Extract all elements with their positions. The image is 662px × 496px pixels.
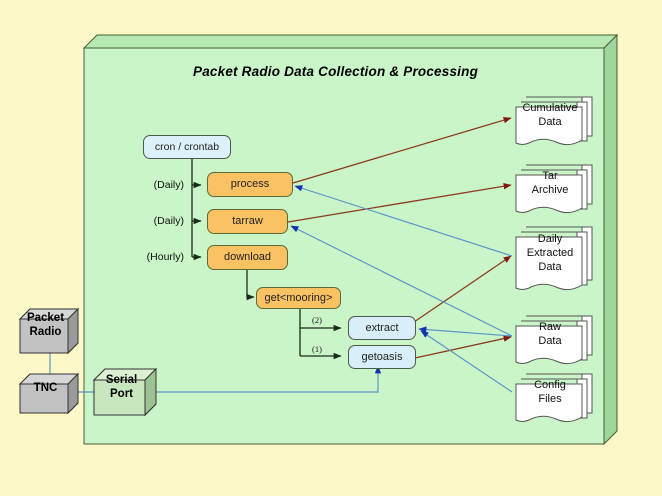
hardware-box-packet-radio[interactable]: Packet Radio [20,305,82,355]
process-box-get-mooring[interactable]: get<mooring> [256,287,341,309]
cron-box[interactable]: cron / crontab [143,135,231,159]
document-stack-cumulative-data[interactable]: Cumulative Data [512,92,600,148]
document-stack-daily-extracted-data[interactable]: Daily Extracted Data [512,222,600,294]
script-box-getoasis[interactable]: getoasis [348,345,416,369]
hardware-box-serial-port[interactable]: Serial Port [94,366,160,418]
document-stack-raw-data[interactable]: Raw Data [512,311,600,367]
getoasis-label: getoasis [362,351,403,364]
sequence-label-1: (1) [312,344,322,354]
cron-label: cron / crontab [155,141,219,153]
tarraw-label: tarraw [232,215,263,228]
download-label: download [224,251,271,264]
hardware-box-tnc[interactable]: TNC [20,371,82,415]
get-mooring-label: get<mooring> [265,292,333,305]
extract-label: extract [365,322,398,335]
process-box-tarraw[interactable]: tarraw [207,209,288,234]
document-stack-tar-archive[interactable]: Tar Archive [512,160,600,216]
diagram-canvas: Packet Radio Data Collection & Processin… [0,0,662,496]
schedule-label-tarraw: (Daily) [126,212,184,230]
script-box-extract[interactable]: extract [348,316,416,340]
sequence-label-2: (2) [312,315,322,325]
document-stack-config-files[interactable]: Config Files [512,369,600,425]
schedule-label-download: (Hourly) [126,248,184,266]
page-title: Packet Radio Data Collection & Processin… [193,64,478,79]
process-box-download[interactable]: download [207,245,288,270]
process-label: process [231,178,270,191]
schedule-label-process: (Daily) [126,176,184,194]
process-box-process[interactable]: process [207,172,293,197]
